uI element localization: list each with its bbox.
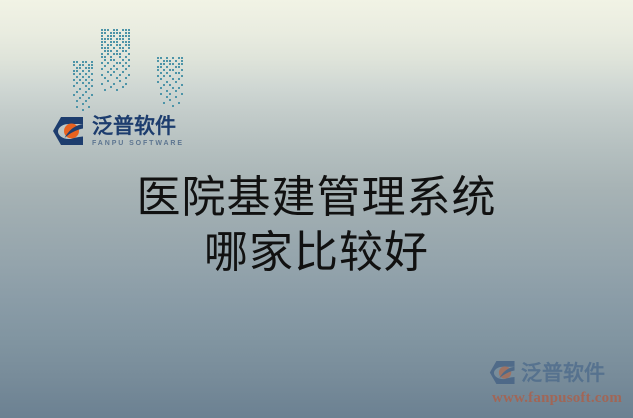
headline-line-1: 医院基建管理系统	[0, 170, 633, 225]
headline-line-2: 哪家比较好	[0, 225, 633, 280]
pixelated-buildings-svg	[70, 26, 188, 120]
watermark-logo: 泛普软件	[489, 356, 625, 388]
pixelated-buildings-graphic	[70, 26, 188, 120]
brand-logo: 泛普软件 FANPU SOFTWARE	[52, 114, 186, 148]
watermark: 泛普软件 www.fanpusoft.com	[489, 356, 625, 410]
watermark-url: www.fanpusoft.com	[489, 390, 625, 407]
poster-canvas: 泛普软件 FANPU SOFTWARE 医院基建管理系统 哪家比较好 泛普软件 …	[0, 0, 633, 418]
watermark-name-cn: 泛普软件	[521, 357, 605, 387]
fanpu-logo-icon	[489, 360, 517, 385]
page-title: 医院基建管理系统 哪家比较好	[0, 170, 633, 280]
brand-text-block: 泛普软件 FANPU SOFTWARE	[92, 116, 184, 147]
brand-name-en: FANPU SOFTWARE	[92, 140, 184, 147]
fanpu-logo-icon	[52, 116, 86, 146]
brand-name-cn: 泛普软件	[92, 116, 184, 137]
